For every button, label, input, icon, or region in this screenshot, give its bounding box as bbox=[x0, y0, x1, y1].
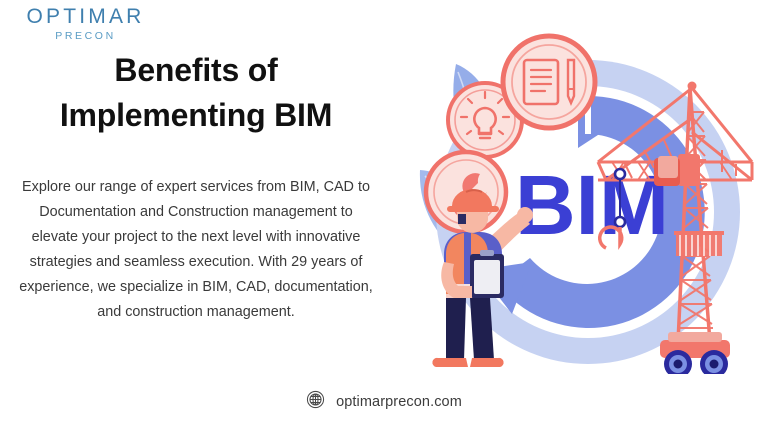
bim-illustration: BIM bbox=[392, 22, 768, 374]
poster-canvas: OPTIMAR PRECON Benefits of Implementing … bbox=[0, 0, 768, 432]
body-paragraph: Explore our range of expert services fro… bbox=[0, 175, 392, 325]
document-pencil-icon bbox=[503, 36, 595, 128]
brand-logo-wordmark: OPTIMAR bbox=[13, 6, 158, 28]
website-url[interactable]: optimarprecon.com bbox=[336, 394, 462, 410]
bim-label: BIM bbox=[515, 158, 669, 252]
page-title-line-2: Implementing BIM bbox=[60, 97, 332, 133]
text-column: Benefits of Implementing BIM Explore our… bbox=[0, 48, 392, 325]
brand-logo[interactable]: OPTIMAR PRECON bbox=[13, 6, 158, 42]
footer: optimarprecon.com bbox=[0, 390, 768, 414]
globe-icon bbox=[306, 390, 325, 414]
brand-logo-subtitle: PRECON bbox=[13, 30, 158, 42]
page-title-line-1: Benefits of bbox=[114, 52, 277, 88]
page-title: Benefits of Implementing BIM bbox=[0, 48, 392, 139]
